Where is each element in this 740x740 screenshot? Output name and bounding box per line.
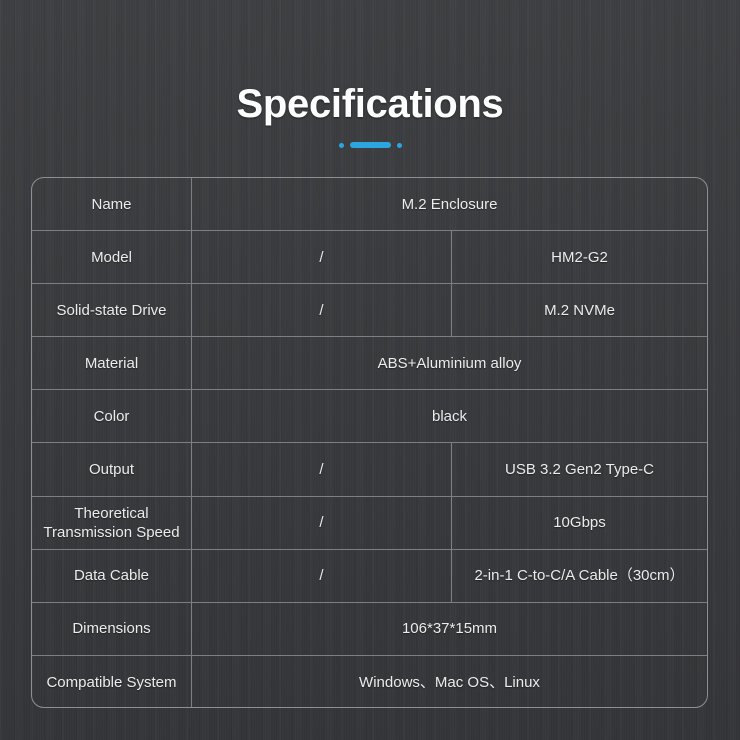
specifications-page: Specifications Name M.2 Enclosure Model … [0, 0, 740, 740]
spec-middle: / [192, 550, 452, 602]
spec-value: 2-in-1 C-to-C/A Cable（30cm） [452, 550, 707, 602]
spec-label: Name [32, 178, 192, 230]
spec-value: USB 3.2 Gen2 Type-C [452, 443, 707, 495]
table-row: Name M.2 Enclosure [32, 178, 707, 231]
spec-value: black [192, 390, 707, 442]
spec-label: Data Cable [32, 550, 192, 602]
table-row: Dimensions 106*37*15mm [32, 603, 707, 656]
spec-value: M.2 NVMe [452, 284, 707, 336]
spec-label: Model [32, 231, 192, 283]
spec-value: 106*37*15mm [192, 603, 707, 655]
divider-bar [350, 142, 391, 148]
table-row: Solid-state Drive / M.2 NVMe [32, 284, 707, 337]
spec-label: Material [32, 337, 192, 389]
spec-label: Dimensions [32, 603, 192, 655]
spec-label: Color [32, 390, 192, 442]
spec-label: Theoretical Transmission Speed [32, 497, 192, 549]
divider-left-dot [339, 143, 344, 148]
table-row: Model / HM2-G2 [32, 231, 707, 284]
title-divider [0, 141, 740, 149]
spec-value: ABS+Aluminium alloy [192, 337, 707, 389]
spec-value: M.2 Enclosure [192, 178, 707, 230]
spec-middle: / [192, 231, 452, 283]
specifications-table: Name M.2 Enclosure Model / HM2-G2 Solid-… [31, 177, 708, 708]
page-title: Specifications [0, 78, 740, 130]
spec-middle: / [192, 497, 452, 549]
spec-value: 10Gbps [452, 497, 707, 549]
table-row: Output / USB 3.2 Gen2 Type-C [32, 443, 707, 496]
spec-label: Compatible System [32, 656, 192, 708]
page-header: Specifications [0, 78, 740, 149]
spec-value: Windows、Mac OS、Linux [192, 656, 707, 708]
table-row: Material ABS+Aluminium alloy [32, 337, 707, 390]
spec-label: Output [32, 443, 192, 495]
table-row: Compatible System Windows、Mac OS、Linux [32, 656, 707, 708]
spec-value: HM2-G2 [452, 231, 707, 283]
table-row: Data Cable / 2-in-1 C-to-C/A Cable（30cm） [32, 550, 707, 603]
spec-middle: / [192, 284, 452, 336]
table-row: Theoretical Transmission Speed / 10Gbps [32, 497, 707, 550]
spec-middle: / [192, 443, 452, 495]
table-row: Color black [32, 390, 707, 443]
spec-label: Solid-state Drive [32, 284, 192, 336]
divider-right-dot [397, 143, 402, 148]
